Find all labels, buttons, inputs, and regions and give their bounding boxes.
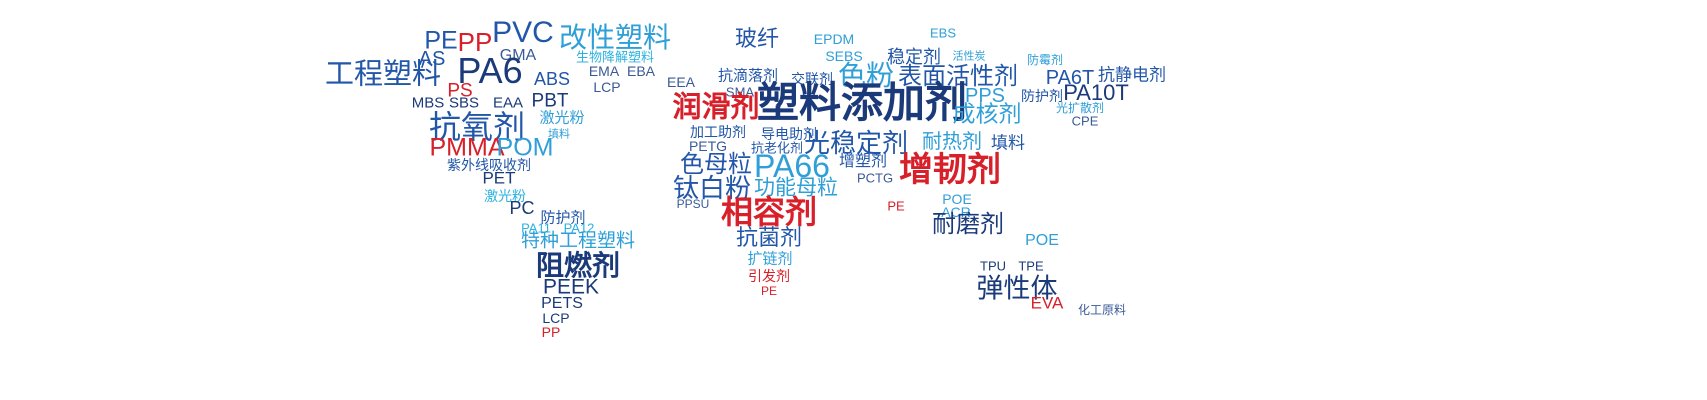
cloud-word[interactable]: CPE	[1072, 115, 1099, 128]
cloud-word[interactable]: EBA	[627, 64, 655, 78]
cloud-word[interactable]: EBS	[930, 27, 956, 40]
cloud-word[interactable]: 增塑剂	[839, 154, 887, 170]
cloud-word[interactable]: 工程塑料	[325, 61, 441, 90]
cloud-word[interactable]: PC	[509, 199, 534, 217]
cloud-word[interactable]: TPU	[980, 260, 1006, 273]
cloud-word[interactable]: 化工原料	[1078, 304, 1126, 316]
cloud-word[interactable]: 改性塑料	[559, 24, 671, 52]
cloud-word[interactable]: 润滑剂	[672, 94, 759, 123]
cloud-word[interactable]: 耐磨剂	[932, 213, 1004, 237]
cloud-word[interactable]: PE	[761, 285, 777, 297]
cloud-word[interactable]: PCTG	[857, 172, 893, 185]
cloud-word[interactable]: PE	[887, 200, 904, 213]
cloud-word[interactable]: EEA	[667, 75, 695, 89]
cloud-word[interactable]: 填料	[991, 135, 1025, 152]
cloud-word[interactable]: 塑料添加剂	[757, 82, 967, 124]
cloud-word[interactable]: 加工助剂	[690, 125, 746, 139]
cloud-word[interactable]: 引发剂	[748, 269, 790, 283]
cloud-word[interactable]: PET	[482, 170, 515, 187]
cloud-word[interactable]: PBT	[532, 92, 569, 111]
cloud-word[interactable]: 相容剂	[721, 196, 817, 228]
cloud-word[interactable]: 增韧剂	[899, 153, 1001, 187]
cloud-word[interactable]: LCP	[542, 311, 569, 325]
cloud-word[interactable]: 抗菌剂	[736, 227, 802, 249]
word-cloud-canvas: PEPPPVCGMA改性塑料玻纤EPDMEBSASPA6生物降解塑料SEBS稳定…	[0, 0, 1707, 400]
cloud-word[interactable]: 活性炭	[953, 52, 986, 63]
cloud-word[interactable]: PP	[542, 325, 561, 339]
cloud-word[interactable]: 防霉剂	[1027, 54, 1063, 66]
cloud-word[interactable]: ABS	[534, 70, 570, 88]
cloud-word[interactable]: 成核剂	[953, 103, 1022, 126]
cloud-word[interactable]: 耐热剂	[922, 132, 982, 152]
cloud-word[interactable]: POE	[1025, 233, 1059, 249]
cloud-word[interactable]: 扩链剂	[747, 252, 792, 267]
cloud-word[interactable]: TPE	[1018, 260, 1043, 273]
cloud-word[interactable]: 光扩散剂	[1056, 102, 1104, 114]
cloud-word[interactable]: 激光粉	[539, 111, 584, 126]
cloud-word[interactable]: 玻纤	[735, 28, 779, 50]
cloud-word[interactable]: EMA	[589, 64, 619, 78]
cloud-word[interactable]: PVC	[492, 18, 554, 48]
cloud-word[interactable]: 生物降解塑料	[576, 51, 654, 64]
cloud-word[interactable]: EVA	[1031, 295, 1064, 312]
cloud-word[interactable]: EPDM	[814, 32, 854, 46]
cloud-word[interactable]: PPSU	[677, 198, 710, 210]
cloud-word[interactable]: 特种工程塑料	[521, 232, 635, 251]
cloud-word[interactable]: LCP	[593, 80, 620, 94]
